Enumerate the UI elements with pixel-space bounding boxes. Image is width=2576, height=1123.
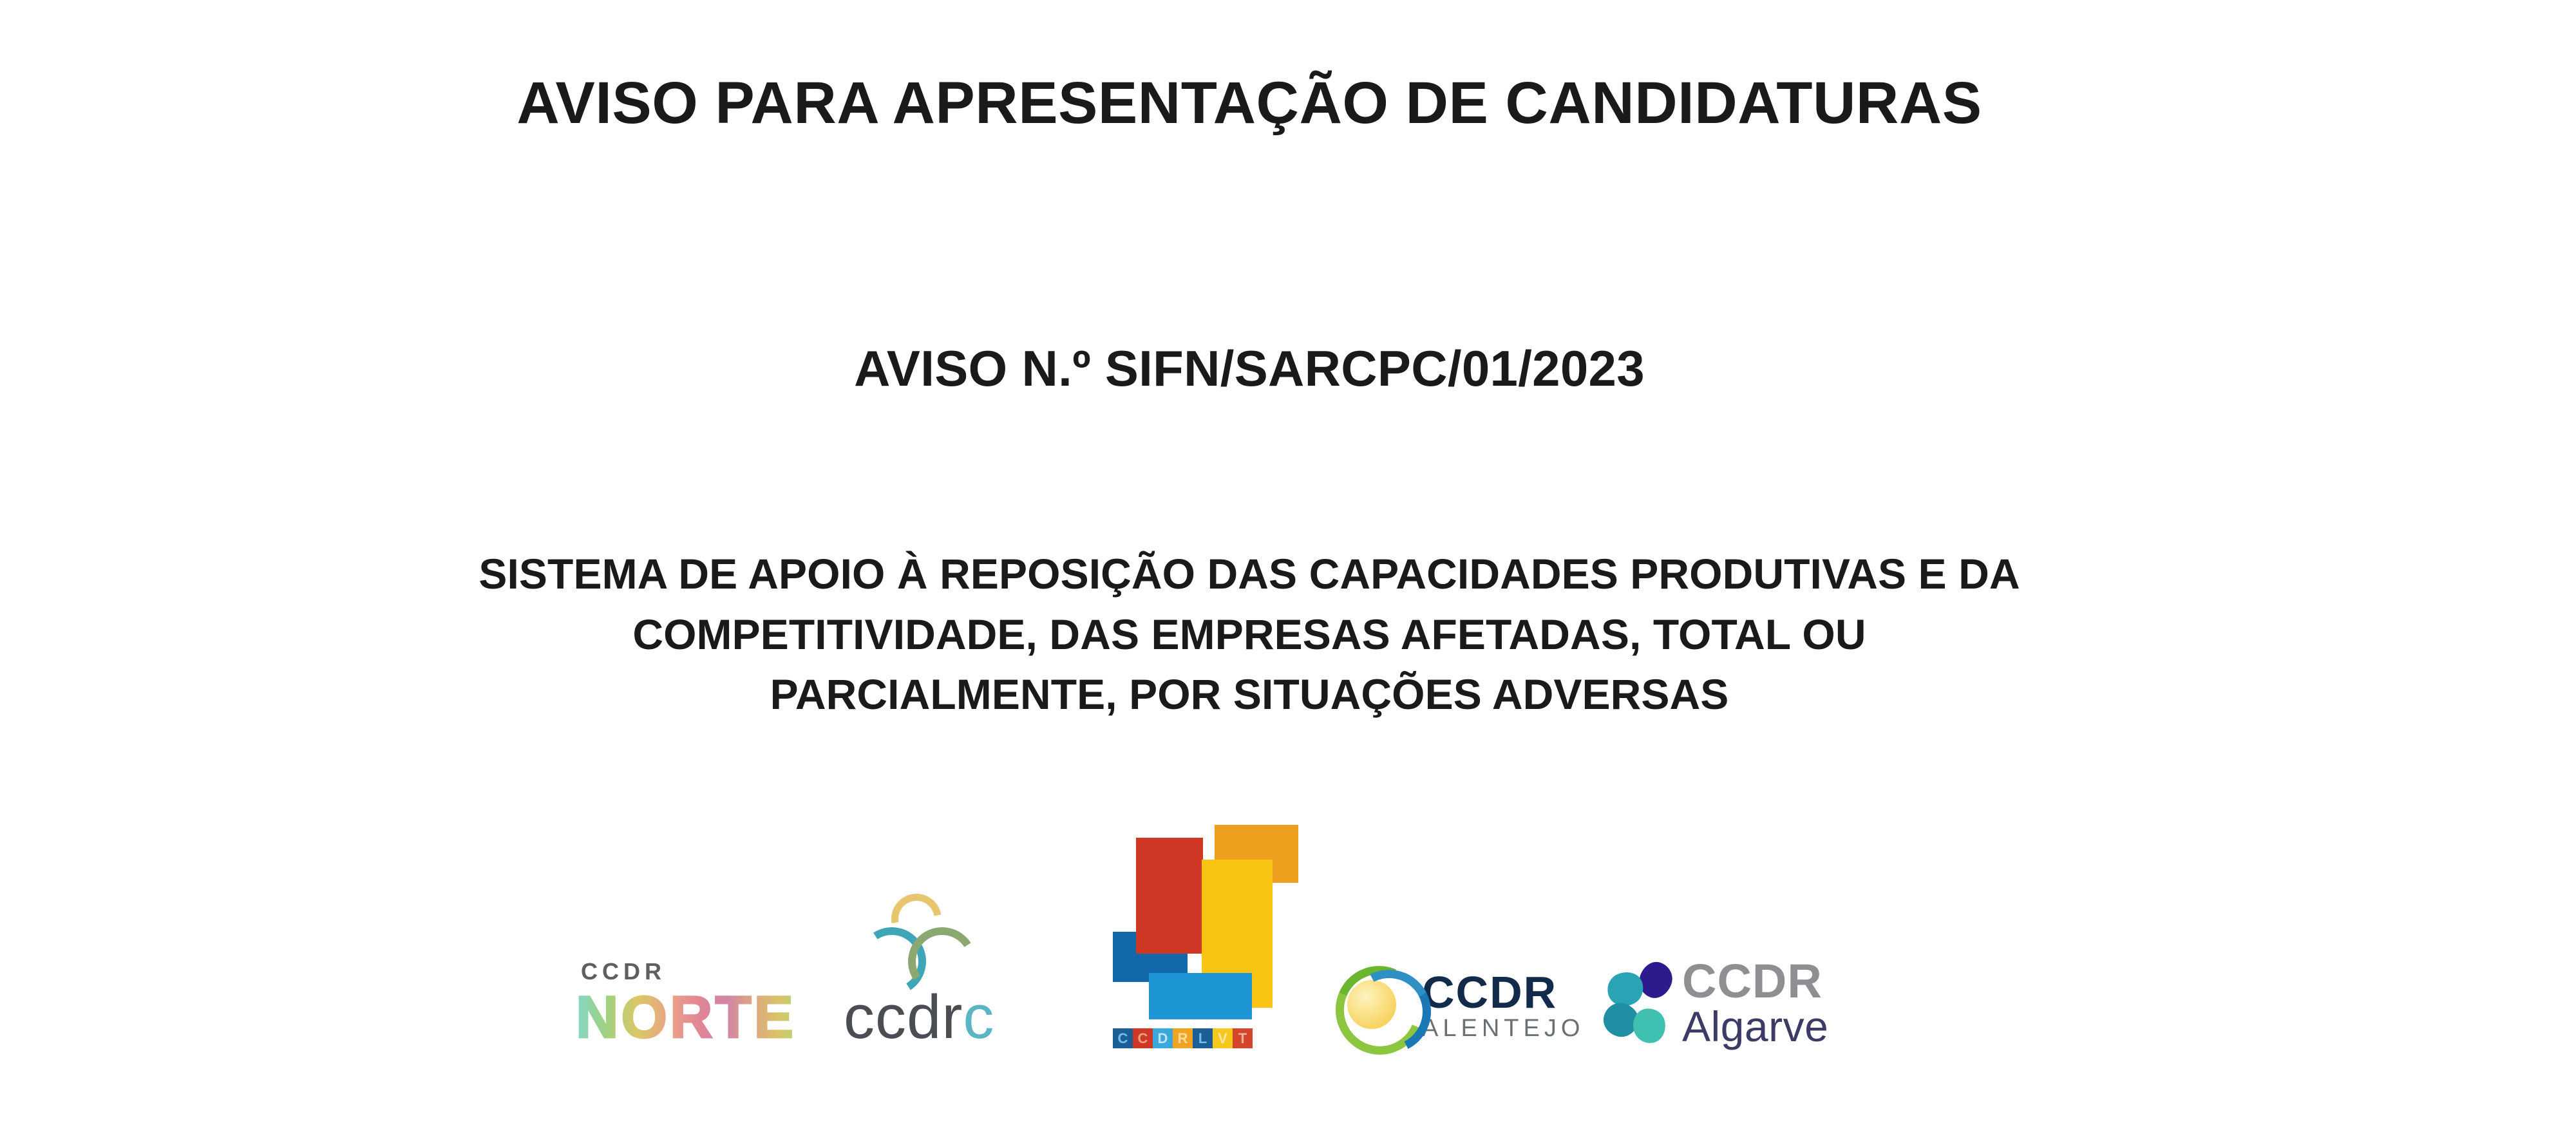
page-title: AVISO PARA APRESENTAÇÃO DE CANDIDATURAS [0,71,2499,136]
lvt-tile-v: V [1213,1028,1233,1048]
scheme-description-line-1: SISTEMA DE APOIO À REPOSIÇÃO DAS CAPACID… [0,544,2499,605]
ccdr-alentejo-lockup: CCDR ALENTEJO [1333,965,1584,1047]
ccdrc-figure-icon [858,894,954,984]
ccdr-algarve-lockup: CCDR Algarve [1604,958,1828,1048]
logo-ccdr-alentejo: CCDR ALENTEJO [1333,965,1604,1062]
logo-ccdr-algarve: CCDR Algarve [1604,958,1835,1062]
ccdr-norte-top-text: CCDR [581,958,666,985]
document-cover-page: AVISO PARA APRESENTAÇÃO DE CANDIDATURAS … [0,0,2576,1123]
ccdr-alentejo-sun-swirl-icon [1333,965,1416,1047]
ccdr-lvt-letter-tiles: C C D R L V T [1113,1028,1253,1048]
ccdr-alentejo-primary-text: CCDR [1422,971,1584,1014]
notice-reference: AVISO N.º SIFN/SARCPC/01/2023 [0,341,2499,397]
lvt-block-red [1136,838,1203,954]
lvt-tile-c2: C [1133,1028,1153,1048]
scheme-description-line-2: COMPETITIVIDADE, DAS EMPRESAS AFETADAS, … [0,605,2499,665]
lvt-tile-c1: C [1113,1028,1133,1048]
lvt-tile-l: L [1193,1028,1213,1048]
ccdr-algarve-pinwheel-icon [1604,958,1680,1048]
ccdr-alentejo-secondary-text: ALENTEJO [1422,1016,1584,1041]
ccdr-lvt-blocks-icon [1113,825,1300,1018]
scheme-description: SISTEMA DE APOIO À REPOSIÇÃO DAS CAPACID… [0,544,2499,725]
ccdrc-wordmark-accent: c [963,983,994,1052]
ccdr-algarve-secondary-text: Algarve [1682,1005,1828,1048]
ccdr-algarve-text: CCDR Algarve [1682,959,1828,1048]
logo-ccdr-lvt: C C D R L V T [1101,825,1333,1062]
scheme-description-line-3: PARCIALMENTE, POR SITUAÇÕES ADVERSAS [0,665,2499,725]
ccdr-alentejo-text: CCDR ALENTEJO [1422,971,1584,1040]
ccdr-algarve-primary-text: CCDR [1682,959,1828,1004]
lvt-tile-d: D [1153,1028,1173,1048]
logo-row: CCDR NORTE ccdrc C C D [567,792,1842,1062]
lvt-block-light-blue [1149,973,1252,1019]
logo-ccdrc: ccdrc [837,894,1101,1062]
logo-ccdr-norte: CCDR NORTE [567,958,837,1062]
lvt-tile-t: T [1233,1028,1253,1048]
lvt-tile-r: R [1173,1028,1193,1048]
ccdrc-wordmark: ccdrc [844,986,994,1048]
ccdr-norte-wordmark: NORTE [576,988,796,1047]
